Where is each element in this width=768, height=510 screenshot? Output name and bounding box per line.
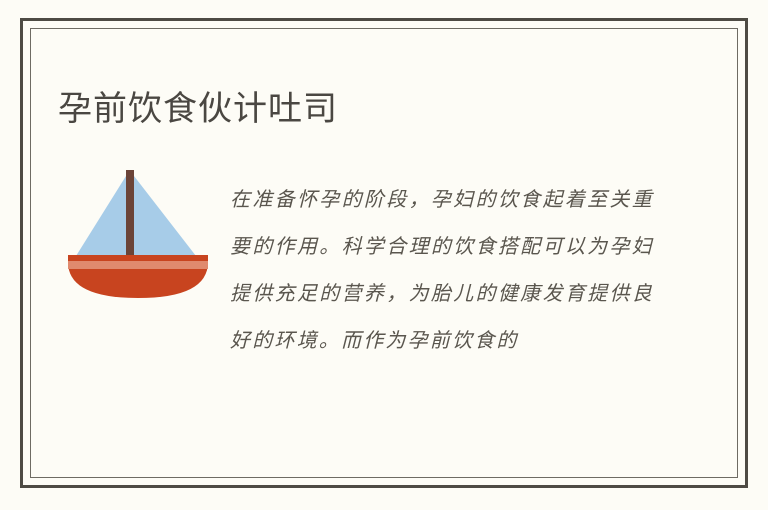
page-title: 孕前饮食伙计吐司 [58, 87, 678, 131]
sailboat-illustration [66, 158, 218, 298]
article-content: 在准备怀孕的阶段，孕妇的饮食起着至关重要的作用。科学合理的饮食搭配可以为孕妇提供… [58, 150, 678, 420]
sailboat-icon [66, 158, 218, 298]
sail-right-shape [134, 176, 196, 256]
hull-stripe-shape [68, 261, 208, 269]
article-body-paragraph: 在准备怀孕的阶段，孕妇的饮食起着至关重要的作用。科学合理的饮食搭配可以为孕妇提供… [230, 176, 654, 364]
sail-left-shape [76, 176, 126, 256]
article-card-page: 孕前饮食伙计吐司 在准备怀孕的阶段，孕妇的饮食起着至关重要的作用。科学合理的饮食… [0, 0, 768, 510]
